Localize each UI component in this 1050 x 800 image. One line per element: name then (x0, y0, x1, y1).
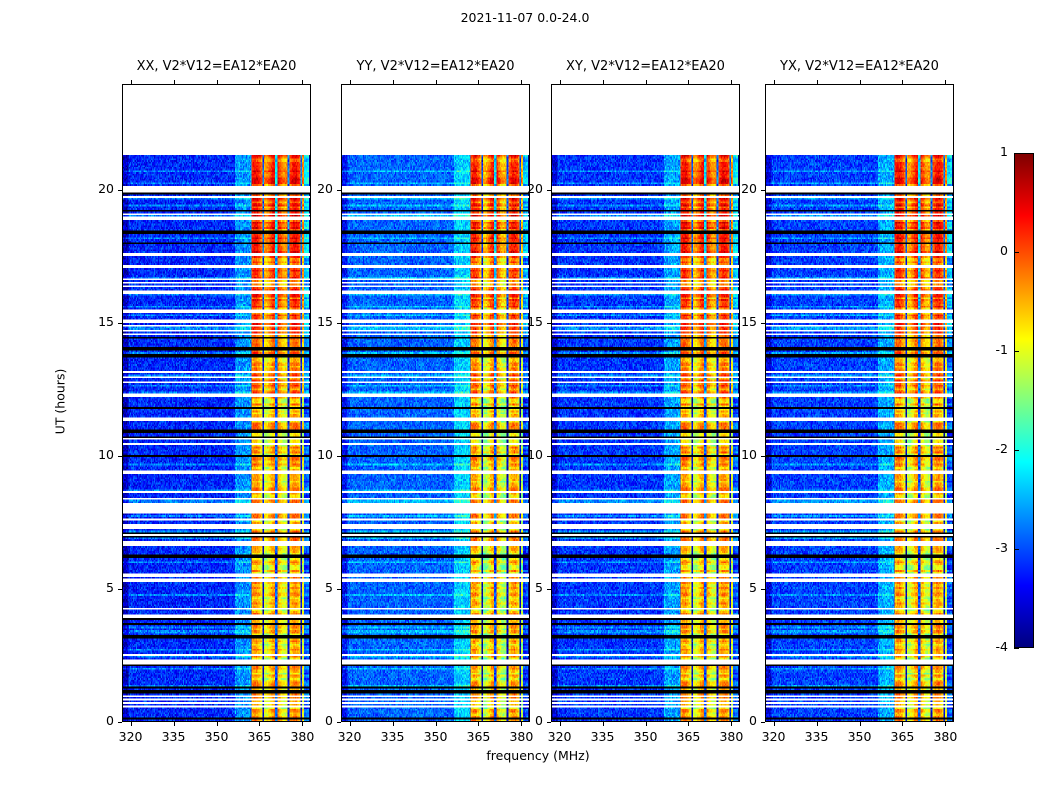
x-tick-label: 380 (279, 729, 325, 744)
x-tick-label: 320 (108, 729, 154, 744)
figure-canvas: 2021-11-07 0.0-24.0 XX, V2*V12=EA12*EA20… (0, 0, 1050, 800)
y-tick-label: 15 (293, 314, 333, 329)
y-tick (337, 190, 341, 191)
panel-title-xx: XX, V2*V12=EA12*EA20 (122, 59, 311, 74)
spectrum-image-yx (766, 155, 953, 721)
x-tick (817, 80, 818, 84)
y-tick (547, 456, 551, 457)
y-tick (118, 589, 122, 590)
panel-title-yx: YX, V2*V12=EA12*EA20 (765, 59, 954, 74)
y-tick-label: 10 (717, 447, 757, 462)
x-tick (860, 722, 861, 726)
colorbar-gradient (1015, 154, 1033, 647)
colorbar-tick-label: -2 (968, 441, 1008, 456)
y-tick (118, 722, 122, 723)
colorbar-tick (1014, 549, 1019, 550)
y-tick-label: 5 (293, 580, 333, 595)
dynamic-spectrum-canvas-yy (342, 155, 529, 721)
x-tick (436, 80, 437, 84)
y-tick-label: 20 (503, 181, 543, 196)
x-tick (774, 80, 775, 84)
x-tick (646, 80, 647, 84)
x-tick (603, 722, 604, 726)
x-tick-label: 320 (751, 729, 797, 744)
y-tick (547, 190, 551, 191)
y-tick (761, 456, 765, 457)
x-tick (521, 80, 522, 84)
x-tick (131, 722, 132, 726)
x-tick-label: 350 (413, 729, 459, 744)
y-tick-label: 15 (503, 314, 543, 329)
x-tick (478, 722, 479, 726)
y-tick (761, 589, 765, 590)
dynamic-spectrum-canvas-xy (552, 155, 739, 721)
y-tick-label: 0 (293, 713, 333, 728)
y-tick-label: 5 (503, 580, 543, 595)
x-tick (860, 80, 861, 84)
x-tick (902, 722, 903, 726)
x-tick-label: 365 (879, 729, 925, 744)
x-tick-label: 320 (537, 729, 583, 744)
x-tick (217, 722, 218, 726)
x-tick (688, 722, 689, 726)
y-tick-label: 5 (717, 580, 757, 595)
y-tick (761, 722, 765, 723)
x-tick (688, 80, 689, 84)
x-axis-label: frequency (MHz) (338, 748, 738, 763)
x-tick (560, 722, 561, 726)
colorbar-tick-label: 0 (968, 243, 1008, 258)
spectrum-image-xy (552, 155, 739, 721)
x-tick (646, 722, 647, 726)
x-tick (560, 80, 561, 84)
x-tick (436, 722, 437, 726)
x-tick (259, 80, 260, 84)
x-tick (350, 80, 351, 84)
x-tick-label: 380 (922, 729, 968, 744)
x-tick-label: 335 (580, 729, 626, 744)
y-tick-label: 0 (503, 713, 543, 728)
colorbar (1014, 153, 1034, 648)
y-tick-label: 15 (74, 314, 114, 329)
y-tick (547, 722, 551, 723)
x-tick (393, 722, 394, 726)
y-tick (547, 323, 551, 324)
x-tick (603, 80, 604, 84)
x-tick-label: 335 (370, 729, 416, 744)
figure-suptitle: 2021-11-07 0.0-24.0 (0, 10, 1050, 25)
x-tick (350, 722, 351, 726)
x-tick-label: 335 (794, 729, 840, 744)
x-tick-label: 380 (708, 729, 754, 744)
y-tick-label: 20 (717, 181, 757, 196)
x-tick-label: 350 (623, 729, 669, 744)
x-tick-label: 350 (194, 729, 240, 744)
colorbar-tick-label: 1 (968, 144, 1008, 159)
colorbar-tick-label: -4 (968, 639, 1008, 654)
y-tick-label: 0 (74, 713, 114, 728)
y-tick (118, 190, 122, 191)
x-tick (393, 80, 394, 84)
x-tick-label: 365 (665, 729, 711, 744)
spectrum-panel-yy (341, 84, 530, 722)
spectrum-panel-yx (765, 84, 954, 722)
x-tick (945, 722, 946, 726)
spectrum-panel-xy (551, 84, 740, 722)
x-tick (217, 80, 218, 84)
x-tick-label: 350 (837, 729, 883, 744)
y-tick-label: 15 (717, 314, 757, 329)
y-tick-label: 10 (74, 447, 114, 462)
colorbar-tick (1014, 153, 1019, 154)
x-tick (174, 722, 175, 726)
spectrum-image-xx (123, 155, 310, 721)
x-tick (945, 80, 946, 84)
colorbar-tick (1014, 648, 1019, 649)
colorbar-tick (1014, 450, 1019, 451)
x-tick (259, 722, 260, 726)
y-tick (761, 323, 765, 324)
y-tick-label: 20 (74, 181, 114, 196)
colorbar-tick (1014, 351, 1019, 352)
y-tick (337, 323, 341, 324)
x-tick (174, 80, 175, 84)
spectrum-image-yy (342, 155, 529, 721)
y-tick-label: 10 (293, 447, 333, 462)
colorbar-tick-label: -1 (968, 342, 1008, 357)
y-tick (337, 456, 341, 457)
dynamic-spectrum-canvas-yx (766, 155, 953, 721)
y-tick (337, 589, 341, 590)
spectrum-panel-xx (122, 84, 311, 722)
y-tick (337, 722, 341, 723)
x-tick-label: 320 (327, 729, 373, 744)
x-tick (731, 80, 732, 84)
colorbar-tick (1014, 252, 1019, 253)
panel-title-xy: XY, V2*V12=EA12*EA20 (551, 59, 740, 74)
x-tick-label: 365 (455, 729, 501, 744)
panel-title-yy: YY, V2*V12=EA12*EA20 (341, 59, 530, 74)
x-tick-label: 365 (236, 729, 282, 744)
colorbar-tick-label: -3 (968, 540, 1008, 555)
x-tick (817, 722, 818, 726)
y-tick (118, 323, 122, 324)
y-tick-label: 20 (293, 181, 333, 196)
y-tick (118, 456, 122, 457)
y-tick-label: 0 (717, 713, 757, 728)
y-tick (761, 190, 765, 191)
y-axis-label: UT (hours) (53, 302, 68, 502)
x-tick (131, 80, 132, 84)
y-tick-label: 5 (74, 580, 114, 595)
y-tick-label: 10 (503, 447, 543, 462)
x-tick (774, 722, 775, 726)
x-tick (302, 80, 303, 84)
x-tick-label: 335 (151, 729, 197, 744)
x-tick (478, 80, 479, 84)
x-tick (902, 80, 903, 84)
y-tick (547, 589, 551, 590)
dynamic-spectrum-canvas-xx (123, 155, 310, 721)
